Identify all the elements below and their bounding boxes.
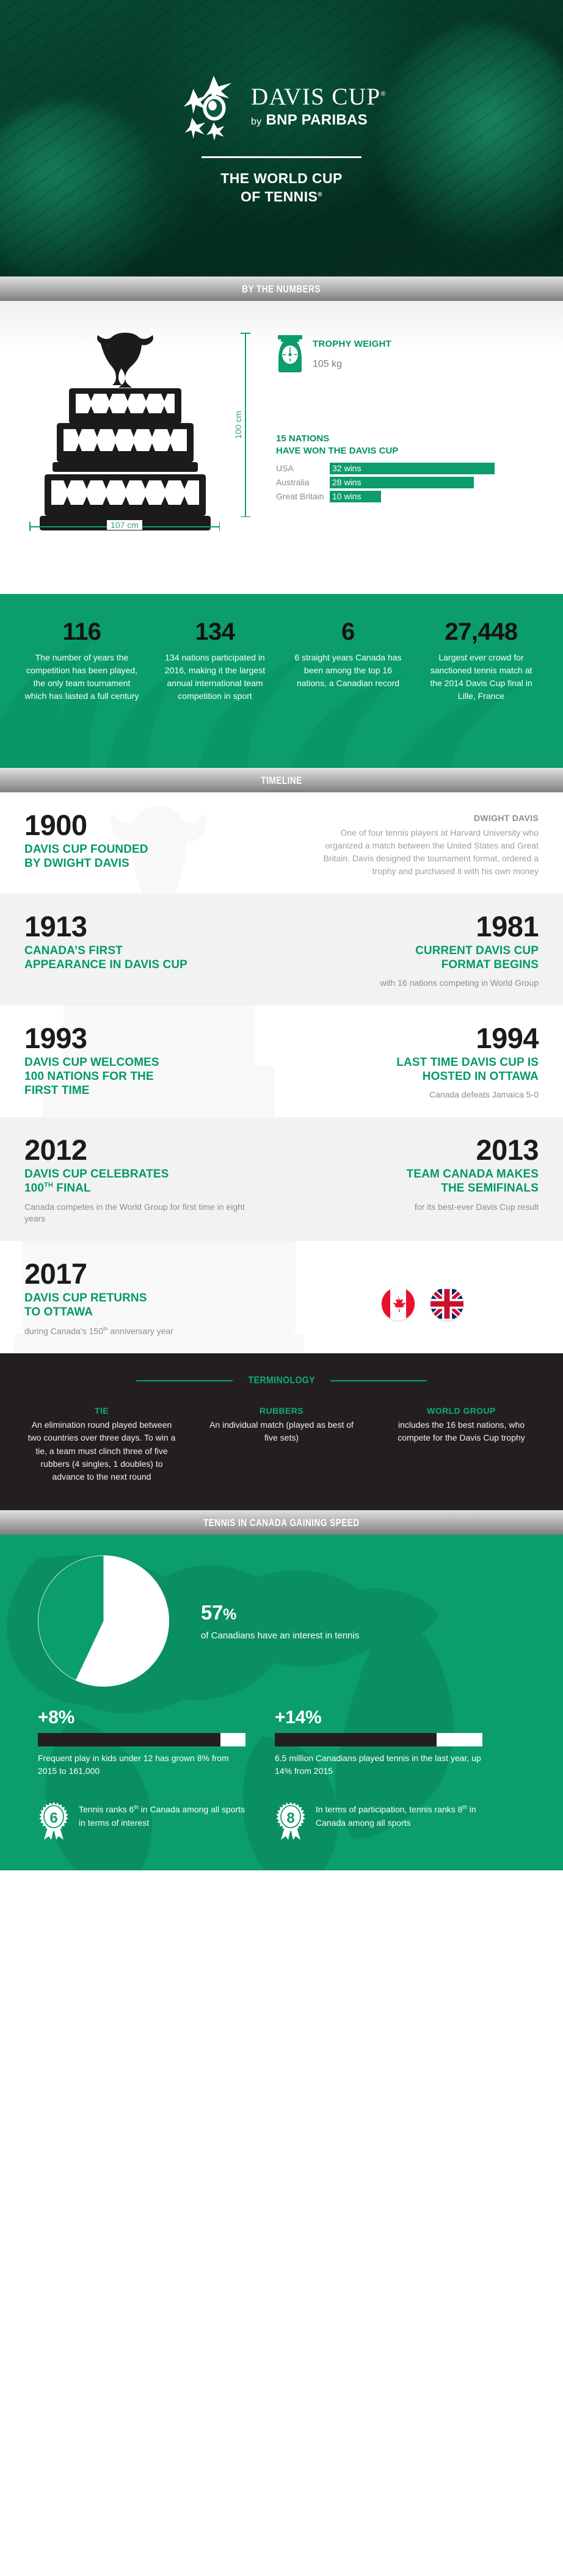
ordinal-suffix: TH xyxy=(44,1182,53,1189)
key-stat-number: 116 xyxy=(24,620,139,644)
match-flags xyxy=(281,1241,563,1353)
logo-registered-mark: ® xyxy=(380,90,387,98)
timeline-headline-line2: BY DWIGHT DAVIS xyxy=(24,856,257,870)
hero-tagline-line1: THE WORLD CUP xyxy=(220,170,342,187)
wins-bar-country: Australia xyxy=(276,477,330,487)
timeline-section: 1900 DAVIS CUP FOUNDED BY DWIGHT DAVIS D… xyxy=(0,792,563,1353)
davis-cup-logo: DAVIS CUP® by BNP PARIBAS xyxy=(176,71,387,143)
trophy-weight-label: TROPHY WEIGHT xyxy=(313,339,391,349)
key-stat-text: 6 straight years Canada has been among t… xyxy=(291,651,405,690)
section-banner-by-the-numbers: BY THE NUMBERS xyxy=(0,277,563,301)
timeline-entry: 2017 DAVIS CUP RETURNS TO OTTAWA during … xyxy=(0,1241,281,1353)
svg-text:8: 8 xyxy=(286,1810,294,1826)
key-stat-text: Largest ever crowd for sanctioned tennis… xyxy=(424,651,539,703)
timeline-headline-line1: DAVIS CUP CELEBRATES xyxy=(24,1167,257,1181)
wins-bar-row: USA32 wins xyxy=(276,462,539,475)
logo-sponsor: BNP PARIBAS xyxy=(266,112,368,128)
timeline-year: 1900 xyxy=(24,811,257,840)
davis-cup-trophy-illustration-icon xyxy=(24,330,226,538)
hero-divider xyxy=(202,156,361,158)
key-stat-text: The number of years the competition has … xyxy=(24,651,139,703)
timeline-row-1913-1981: 1913 CANADA’S FIRST APPEARANCE IN DAVIS … xyxy=(0,894,563,1005)
trophy-height-label: 100 cm xyxy=(231,410,245,440)
growth-progress-bar xyxy=(275,1733,482,1746)
timeline-subtext: Canada competes in the World Group for f… xyxy=(24,1201,257,1226)
growth-caption: Frequent play in kids under 12 has grown… xyxy=(38,1752,245,1778)
timeline-subtext: with 16 nations competing in World Group xyxy=(306,977,539,990)
trophy-width-label: 107 cm xyxy=(107,520,142,530)
timeline-headline-line1: CURRENT DAVIS CUP xyxy=(306,944,539,958)
timeline-headline-line3: FIRST TIME xyxy=(24,1084,257,1098)
terminology-list: TIEAn elimination round played between t… xyxy=(24,1406,539,1483)
wins-bar-fill: 28 wins xyxy=(330,477,474,488)
key-stat-number: 6 xyxy=(291,620,405,644)
pie-chart-graphic xyxy=(38,1555,169,1687)
nations-title-line2: HAVE WON THE DAVIS CUP xyxy=(276,445,539,457)
note-body: One of four tennis players at Harvard Un… xyxy=(307,827,539,878)
wins-bar-row: Great Britain10 wins xyxy=(276,490,539,503)
growth-progress-fill xyxy=(275,1733,437,1746)
timeline-headline: DAVIS CUP RETURNS TO OTTAWA xyxy=(24,1291,257,1319)
rank-stat-item: 8In terms of participation, tennis ranks… xyxy=(275,1800,482,1840)
timeline-year: 1994 xyxy=(306,1024,539,1053)
anniversary-post: anniversary year xyxy=(107,1326,173,1336)
key-stat-item: 134134 nations participated in 2016, mak… xyxy=(158,620,272,703)
key-stat-item: 116The number of years the competition h… xyxy=(24,620,139,703)
dwight-davis-note: DWIGHT DAVIS One of four tennis players … xyxy=(281,792,563,894)
section-title: BY THE NUMBERS xyxy=(242,283,321,295)
terminology-term: RUBBERS xyxy=(205,1406,359,1416)
pie-percent-number: 57 xyxy=(201,1601,223,1624)
timeline-row-2012-2013: 2012 DAVIS CUP CELEBRATES 100TH FINAL Ca… xyxy=(0,1117,563,1241)
timeline-row-1993-1994: 1993 DAVIS CUP WELCOMES 100 NATIONS FOR … xyxy=(0,1005,563,1117)
timeline-headline-line1: DAVIS CUP WELCOMES xyxy=(24,1055,257,1069)
terminology-item: TIEAn elimination round played between t… xyxy=(24,1406,179,1483)
timeline-headline: DAVIS CUP CELEBRATES 100TH FINAL xyxy=(24,1167,257,1195)
timeline-headline-line1: CANADA’S FIRST xyxy=(24,944,257,958)
timeline-subtext: during Canada’s 150th anniversary year xyxy=(24,1325,257,1338)
key-stat-text: 134 nations participated in 2016, making… xyxy=(158,651,272,703)
terminology-definition: An individual match (played as best of f… xyxy=(205,1419,359,1445)
timeline-entry: 1913 CANADA’S FIRST APPEARANCE IN DAVIS … xyxy=(0,894,281,1005)
timeline-year: 1981 xyxy=(306,912,539,941)
growth-stats-list: +8%Frequent play in kids under 12 has gr… xyxy=(0,1687,563,1778)
timeline-year: 2013 xyxy=(306,1135,539,1165)
timeline-headline: TEAM CANADA MAKES THE SEMIFINALS xyxy=(306,1167,539,1195)
timeline-entry: 1993 DAVIS CUP WELCOMES 100 NATIONS FOR … xyxy=(0,1005,281,1117)
timeline-headline-line2: THE SEMIFINALS xyxy=(306,1181,539,1195)
rank-text: In terms of participation, tennis ranks … xyxy=(316,1800,482,1829)
anniversary-pre: during Canada’s 150 xyxy=(24,1326,103,1336)
final-count: 100 xyxy=(24,1182,44,1195)
trophy-weight-block: TROPHY WEIGHT 105 kg xyxy=(276,335,391,373)
timeline-entry: 1994 LAST TIME DAVIS CUP IS HOSTED IN OT… xyxy=(281,1005,563,1117)
wins-bar-list: USA32 winsAustralia28 winsGreat Britain1… xyxy=(276,462,539,503)
terminology-term: TIE xyxy=(24,1406,179,1416)
timeline-row-1900: 1900 DAVIS CUP FOUNDED BY DWIGHT DAVIS D… xyxy=(0,792,563,894)
section-banner-timeline: TIMELINE xyxy=(0,768,563,792)
trophy-width-dimension: 107 cm xyxy=(29,519,220,534)
rank-stats-list: 6Tennis ranks 6th in Canada among all sp… xyxy=(0,1778,563,1864)
timeline-headline-line2: TO OTTAWA xyxy=(24,1305,257,1319)
ordinal-suffix: th xyxy=(462,1804,467,1811)
section-banner-tennis-canada: TENNIS IN CANADA GAINING SPEED xyxy=(0,1510,563,1535)
growth-progress-fill xyxy=(38,1733,220,1746)
pie-value: 57% xyxy=(201,1601,359,1624)
key-stat-number: 134 xyxy=(158,620,272,644)
rank-text-pre: Tennis ranks 6 xyxy=(79,1804,134,1814)
key-stat-number: 27,448 xyxy=(424,620,539,644)
rank-text: Tennis ranks 6th in Canada among all spo… xyxy=(79,1800,245,1829)
timeline-headline-line1: LAST TIME DAVIS CUP IS xyxy=(306,1055,539,1069)
timeline-headline-line2: 100 NATIONS FOR THE xyxy=(24,1069,257,1084)
rank-text-pre: In terms of participation, tennis ranks … xyxy=(316,1804,462,1814)
nations-wins-chart: 15 NATIONS HAVE WON THE DAVIS CUP USA32 … xyxy=(276,433,539,504)
growth-caption: 6.5 million Canadians played tennis in t… xyxy=(275,1752,482,1778)
wins-bar-fill: 32 wins xyxy=(330,463,495,474)
key-stat-item: 66 straight years Canada has been among … xyxy=(291,620,405,703)
timeline-headline-line1: DAVIS CUP RETURNS xyxy=(24,1291,257,1305)
timeline-year: 1913 xyxy=(24,912,257,941)
terminology-section: TERMINOLOGY TIEAn elimination round play… xyxy=(0,1353,563,1510)
great-britain-flag-icon xyxy=(430,1287,463,1320)
terminology-item: RUBBERSAn individual match (played as be… xyxy=(205,1406,359,1483)
timeline-headline: DAVIS CUP FOUNDED BY DWIGHT DAVIS xyxy=(24,842,257,870)
terminology-item: WORLD GROUPincludes the 16 best nations,… xyxy=(384,1406,539,1483)
timeline-entry: 2013 TEAM CANADA MAKES THE SEMIFINALS fo… xyxy=(281,1117,563,1241)
terminology-definition: An elimination round played between two … xyxy=(24,1419,179,1483)
nations-title-line1: 15 NATIONS xyxy=(276,433,539,445)
wins-bar-fill: 10 wins xyxy=(330,491,381,502)
timeline-headline-line2: HOSTED IN OTTAWA xyxy=(306,1069,539,1084)
wins-bar-country: USA xyxy=(276,463,330,473)
logo-by-word: by xyxy=(251,117,262,127)
key-stats-section: 116The number of years the competition h… xyxy=(0,594,563,768)
infographic-page: DAVIS CUP® by BNP PARIBAS THE WORLD CUP … xyxy=(0,0,563,1870)
timeline-entry: 1900 DAVIS CUP FOUNDED BY DWIGHT DAVIS xyxy=(0,792,281,894)
timeline-subtext: for its best-ever Davis Cup result xyxy=(306,1201,539,1214)
timeline-headline: DAVIS CUP WELCOMES 100 NATIONS FOR THE F… xyxy=(24,1055,257,1098)
hero-tagline-line2: OF TENNIS xyxy=(241,189,318,204)
ordinal-suffix: th xyxy=(134,1804,139,1811)
timeline-year: 2012 xyxy=(24,1135,257,1165)
canada-flag-icon xyxy=(382,1287,415,1320)
timeline-headline: CANADA’S FIRST APPEARANCE IN DAVIS CUP xyxy=(24,944,257,972)
rank-stat-item: 6Tennis ranks 6th in Canada among all sp… xyxy=(38,1800,245,1840)
nations-chart-title: 15 NATIONS HAVE WON THE DAVIS CUP xyxy=(276,433,539,457)
key-stats-list: 116The number of years the competition h… xyxy=(0,594,563,703)
final-word: FINAL xyxy=(53,1182,91,1195)
pie-caption: of Canadians have an interest in tennis xyxy=(201,1630,359,1641)
timeline-headline: LAST TIME DAVIS CUP IS HOSTED IN OTTAWA xyxy=(306,1055,539,1084)
pie-outline xyxy=(38,1555,169,1687)
pie-percent-sign: % xyxy=(223,1606,236,1623)
hero-banner: DAVIS CUP® by BNP PARIBAS THE WORLD CUP … xyxy=(0,0,563,277)
growth-percent: +8% xyxy=(38,1707,245,1728)
timeline-subtext: Canada defeats Jamaica 5-0 xyxy=(306,1089,539,1101)
growth-progress-bar xyxy=(38,1733,245,1746)
section-title: TIMELINE xyxy=(261,775,302,787)
timeline-headline-line1: TEAM CANADA MAKES xyxy=(306,1167,539,1181)
timeline-headline-line1: DAVIS CUP FOUNDED xyxy=(24,842,257,856)
hero-tagline-registered: ® xyxy=(318,191,322,198)
timeline-entry: 2012 DAVIS CUP CELEBRATES 100TH FINAL Ca… xyxy=(0,1117,281,1241)
trophy-height-dimension: 100 cm xyxy=(238,333,253,517)
timeline-headline-line2: APPEARANCE IN DAVIS CUP xyxy=(24,958,257,972)
timeline-headline-line2: FORMAT BEGINS xyxy=(306,958,539,972)
wins-bar-row: Australia28 wins xyxy=(276,476,539,489)
hero-tagline: THE WORLD CUP OF TENNIS® xyxy=(220,170,342,206)
by-the-numbers-section: 100 cm 107 cm TROPHY xyxy=(0,301,563,594)
interest-pie-chart: 57% of Canadians have an interest in ten… xyxy=(0,1535,563,1687)
section-title: TENNIS IN CANADA GAINING SPEED xyxy=(203,1517,360,1529)
growth-stat-item: +8%Frequent play in kids under 12 has gr… xyxy=(38,1707,245,1778)
rule-left xyxy=(136,1380,233,1381)
bnp-paribas-stars-logo-icon xyxy=(176,71,249,143)
section-title: TERMINOLOGY xyxy=(248,1375,315,1386)
terminology-term: WORLD GROUP xyxy=(384,1406,539,1416)
trophy-weight-value: 105 kg xyxy=(313,359,391,370)
tennis-in-canada-section: 57% of Canadians have an interest in ten… xyxy=(0,1535,563,1870)
rosette-icon: 8 xyxy=(275,1800,307,1840)
rosette-icon: 6 xyxy=(38,1800,70,1840)
svg-text:6: 6 xyxy=(49,1810,57,1826)
weighing-scale-icon xyxy=(276,335,304,373)
logo-title: DAVIS CUP xyxy=(251,84,380,110)
terminology-heading: TERMINOLOGY xyxy=(24,1375,539,1386)
note-title: DWIGHT DAVIS xyxy=(307,813,539,823)
terminology-definition: includes the 16 best nations, who compet… xyxy=(384,1419,539,1445)
key-stat-item: 27,448Largest ever crowd for sanctioned … xyxy=(424,620,539,703)
timeline-year: 2017 xyxy=(24,1259,257,1289)
timeline-headline: CURRENT DAVIS CUP FORMAT BEGINS xyxy=(306,944,539,972)
timeline-year: 1993 xyxy=(24,1024,257,1053)
timeline-headline-line2: 100TH FINAL xyxy=(24,1181,257,1195)
timeline-row-2017: 2017 DAVIS CUP RETURNS TO OTTAWA during … xyxy=(0,1241,563,1353)
timeline-entry: 1981 CURRENT DAVIS CUP FORMAT BEGINS wit… xyxy=(281,894,563,1005)
growth-stat-item: +14%6.5 million Canadians played tennis … xyxy=(275,1707,482,1778)
growth-percent: +14% xyxy=(275,1707,482,1728)
wins-bar-country: Great Britain xyxy=(276,491,330,501)
rule-right xyxy=(330,1380,427,1381)
